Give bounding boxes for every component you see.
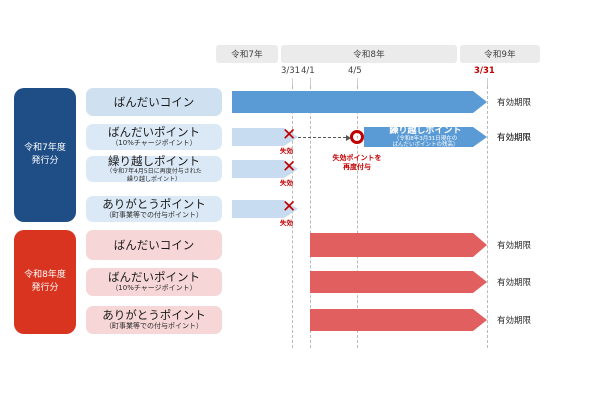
reissue-callout-line2: 再度付与 bbox=[309, 163, 405, 172]
bar-arrow-r7-coin bbox=[232, 91, 487, 113]
right-label-r8-thanks: 有効期限 bbox=[497, 314, 531, 326]
row-name-r8-coin: ばんだいコイン bbox=[114, 239, 195, 252]
expire-x-icon-r7-thanks: ✕ bbox=[282, 199, 296, 216]
row-subname2-r7-carry: 繰り越しポイント） bbox=[127, 176, 181, 184]
expire-label-r7-carry: 失効 bbox=[280, 177, 293, 187]
date-label-3: 3/31 bbox=[474, 66, 495, 76]
reissue-callout: 失効ポイントを再度付与 bbox=[309, 154, 405, 172]
bar-arrow-r8-point bbox=[310, 271, 487, 293]
row-name-box-r8-coin: ばんだいコイン bbox=[86, 230, 222, 260]
row-subname1-r7-carry: （令和7年4月5日に再度付与された bbox=[106, 168, 201, 176]
row-subname1-r7-point: （10%チャージポイント） bbox=[111, 139, 196, 148]
expire-label-r7-thanks: 失効 bbox=[280, 217, 293, 227]
bar-arrow-r8-thanks bbox=[310, 309, 487, 331]
date-tick-3 bbox=[487, 78, 488, 86]
date-label-2: 4/5 bbox=[348, 66, 362, 76]
reissue-callout-line1: 失効ポイントを bbox=[309, 154, 405, 163]
group-pill-reiwa7: 令和7年度発行分 bbox=[14, 88, 76, 222]
row-name-box-r7-thanks: ありがとうポイント（町事業等での付与ポイント） bbox=[86, 196, 222, 222]
row-name-box-r8-thanks: ありがとうポイント（町事業等での付与ポイント） bbox=[86, 306, 222, 334]
date-label-1: 4/1 bbox=[301, 66, 315, 76]
date-label-0: 3/31 bbox=[281, 66, 300, 76]
timeline-diagram: 令和7年令和8年令和9年3/314/14/53/31令和7年度発行分令和8年度発… bbox=[0, 0, 600, 415]
row-name-r8-thanks: ありがとうポイント bbox=[102, 309, 206, 322]
bar-arrow-r8-coin bbox=[310, 233, 487, 257]
row-name-r7-thanks: ありがとうポイント bbox=[102, 198, 206, 211]
row-name-box-r7-carry: 繰り越しポイント（令和7年4月5日に再度付与された繰り越しポイント） bbox=[86, 156, 222, 182]
row-name-box-r7-coin: ばんだいコイン bbox=[86, 88, 222, 116]
group-label-line2: 発行分 bbox=[24, 282, 66, 295]
reissue-connector-arrow bbox=[298, 137, 346, 138]
row-subname1-r8-point: （10%チャージポイント） bbox=[111, 284, 196, 293]
carryover-arrow: 繰り越しポイント（令和8年3月31日現在のばんだいポイントの残高） bbox=[364, 127, 487, 147]
guide-line-2 bbox=[357, 86, 358, 348]
expire-x-icon-r7-point: ✕ bbox=[282, 127, 296, 144]
row-name-r7-coin: ばんだいコイン bbox=[114, 96, 195, 109]
date-tick-0 bbox=[292, 78, 293, 86]
right-label-r7-coin: 有効期限 bbox=[497, 96, 531, 108]
year-header-2: 令和8年 bbox=[281, 45, 457, 63]
row-subname1-r7-thanks: （町事業等での付与ポイント） bbox=[105, 211, 203, 220]
group-label-line1: 令和7年度 bbox=[24, 142, 66, 155]
guide-line-1 bbox=[310, 86, 311, 348]
row-name-box-r7-point: ばんだいポイント（10%チャージポイント） bbox=[86, 124, 222, 150]
date-tick-2 bbox=[357, 78, 358, 86]
group-pill-reiwa8: 令和8年度発行分 bbox=[14, 230, 76, 334]
row-name-box-r8-point: ばんだいポイント（10%チャージポイント） bbox=[86, 268, 222, 296]
guide-line-3 bbox=[487, 86, 488, 348]
right-label-r8-point: 有効期限 bbox=[497, 276, 531, 288]
row-name-r8-point: ばんだいポイント bbox=[108, 271, 200, 284]
year-header-3: 令和9年 bbox=[460, 45, 540, 63]
date-tick-1 bbox=[310, 78, 311, 86]
carryover-right-label: 有効期限 bbox=[497, 131, 531, 143]
year-header-1: 令和7年 bbox=[216, 45, 278, 63]
row-subname1-r8-thanks: （町事業等での付与ポイント） bbox=[105, 322, 203, 331]
right-label-r8-coin: 有効期限 bbox=[497, 239, 531, 251]
expire-label-r7-point: 失効 bbox=[280, 145, 293, 155]
reissue-circle-marker bbox=[350, 130, 364, 144]
group-label-line2: 発行分 bbox=[24, 155, 66, 168]
connector-arrowhead bbox=[346, 135, 351, 141]
carryover-arrow-line1: 繰り越しポイント bbox=[389, 126, 461, 136]
carryover-arrow-line3: ばんだいポイントの残高） bbox=[392, 142, 458, 149]
row-name-r7-point: ばんだいポイント bbox=[108, 126, 200, 139]
expire-x-icon-r7-carry: ✕ bbox=[282, 159, 296, 176]
group-label-line1: 令和8年度 bbox=[24, 269, 66, 282]
row-name-r7-carry: 繰り越しポイント bbox=[108, 155, 200, 168]
